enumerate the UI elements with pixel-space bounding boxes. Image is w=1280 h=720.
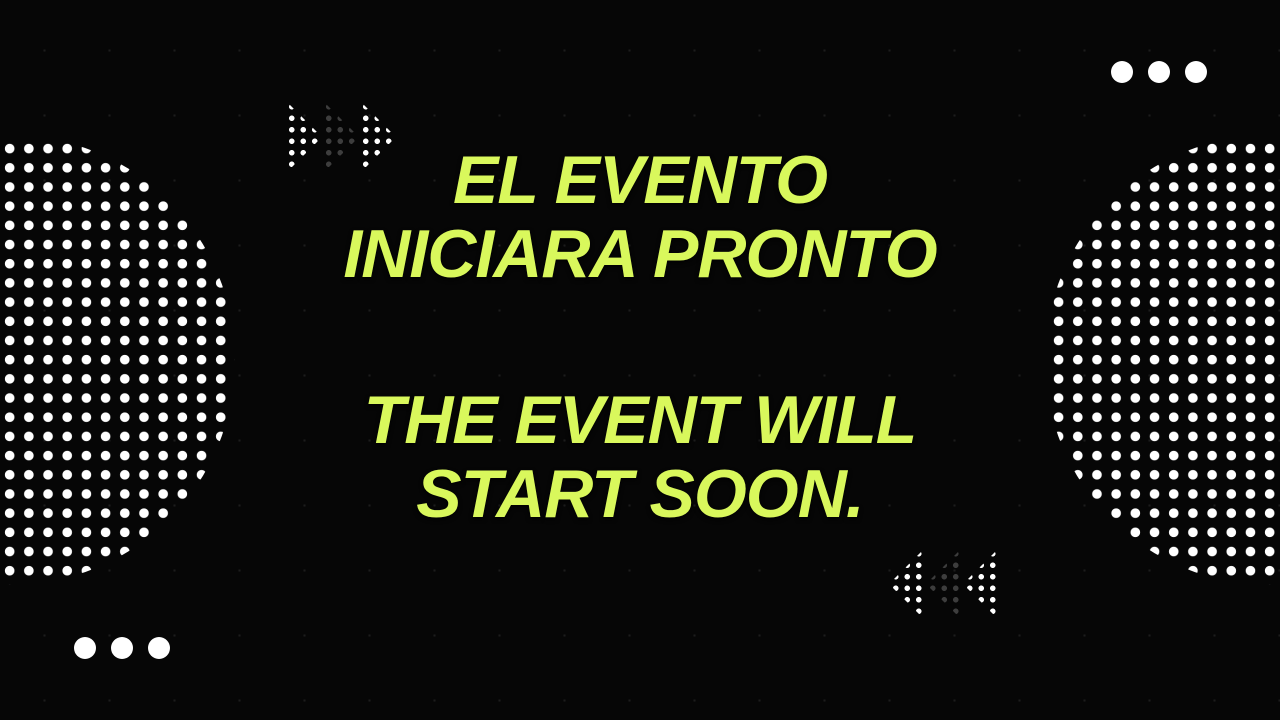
- dot-icon: [1185, 61, 1207, 83]
- dot-triad-bottom-left: [74, 637, 170, 659]
- play-arrow-left-icon: [926, 547, 963, 621]
- headline-english-line-2: START SOON.: [0, 457, 1280, 531]
- halftone-arrows-bottom-right: [889, 547, 1000, 621]
- headline-english-line-1: THE EVENT WILL: [0, 383, 1280, 457]
- dot-icon: [74, 637, 96, 659]
- headline-spanish-line-1: EL EVENTO: [0, 143, 1280, 217]
- play-arrow-left-icon: [889, 547, 926, 621]
- dot-triad-top-right: [1111, 61, 1207, 83]
- dot-icon: [1111, 61, 1133, 83]
- dot-icon: [148, 637, 170, 659]
- dot-icon: [1148, 61, 1170, 83]
- play-arrow-left-icon: [963, 547, 1000, 621]
- waiting-screen-slide: EL EVENTO INICIARA PRONTO THE EVENT WILL…: [0, 0, 1280, 720]
- headline-spanish-line-2: INICIARA PRONTO: [0, 217, 1280, 291]
- dot-icon: [111, 637, 133, 659]
- headline-english: THE EVENT WILL START SOON.: [0, 383, 1280, 531]
- headline-spanish: EL EVENTO INICIARA PRONTO: [0, 143, 1280, 291]
